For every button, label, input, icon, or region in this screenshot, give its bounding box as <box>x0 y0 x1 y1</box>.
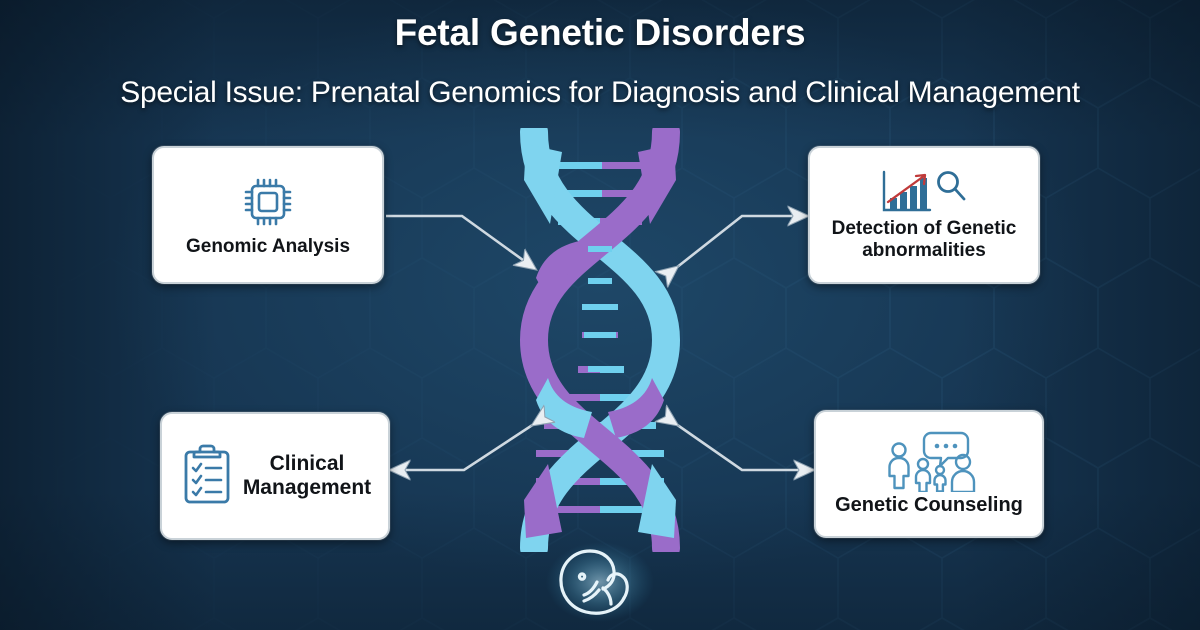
card-clinical-content: Clinical Management <box>162 414 388 538</box>
page-subtitle: Special Issue: Prenatal Genomics for Dia… <box>0 76 1200 110</box>
card-detection-label-line2: abnormalities <box>832 240 1017 262</box>
card-genetic-counseling[interactable]: Genetic Counseling <box>814 410 1044 538</box>
card-genomic-analysis-content: Genomic Analysis <box>154 148 382 282</box>
card-clinical-management[interactable]: Clinical Management <box>160 412 390 540</box>
card-detection-content: Detection of Genetic abnormalities <box>810 148 1038 282</box>
card-counseling-content: Genetic Counseling <box>816 412 1042 536</box>
page-title: Fetal Genetic Disorders <box>0 12 1200 54</box>
dna-double-helix-graphic <box>492 128 708 552</box>
family-speech-bubble-icon <box>875 430 983 492</box>
clipboard-checklist-icon <box>179 444 237 508</box>
microchip-icon <box>238 172 298 232</box>
card-clinical-label: Clinical Management <box>243 452 371 501</box>
bar-chart-magnifier-icon <box>876 168 972 216</box>
card-clinical-label-line1: Clinical <box>243 452 371 476</box>
card-detection-of-genetic-abnormalities[interactable]: Detection of Genetic abnormalities <box>808 146 1040 284</box>
fetus-glow-icon <box>528 538 672 626</box>
card-genomic-analysis-label: Genomic Analysis <box>186 236 350 258</box>
poster-canvas: Fetal Genetic Disorders Special Issue: P… <box>0 0 1200 630</box>
card-clinical-label-line2: Management <box>243 476 371 500</box>
card-counseling-label: Genetic Counseling <box>835 494 1023 517</box>
card-detection-label: Detection of Genetic abnormalities <box>832 218 1017 262</box>
card-detection-label-line1: Detection of Genetic <box>832 218 1017 240</box>
card-genomic-analysis[interactable]: Genomic Analysis <box>152 146 384 284</box>
